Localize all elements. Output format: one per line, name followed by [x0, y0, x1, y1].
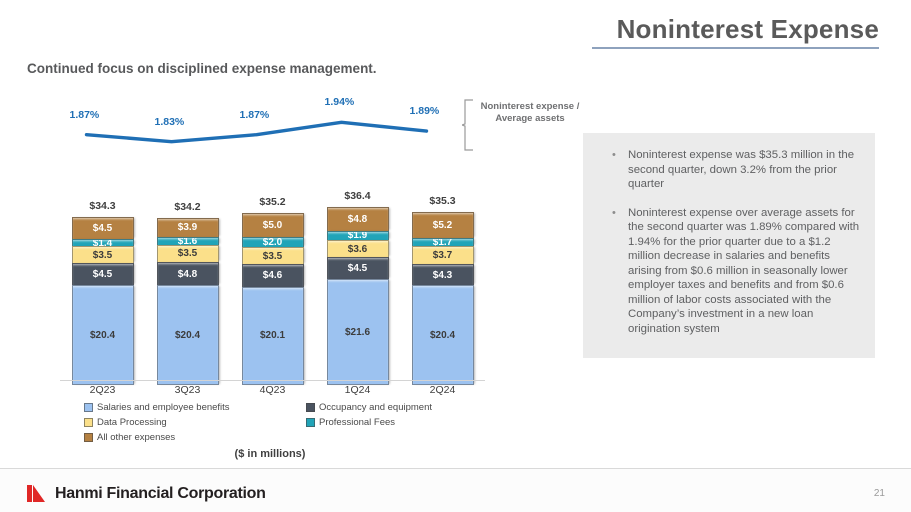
legend-item[interactable]: Data Processing — [84, 417, 167, 428]
bar-segment-label: $3.9 — [178, 222, 197, 233]
bar-segment[interactable]: $20.4 — [157, 285, 219, 385]
bar-total-label: $34.3 — [72, 200, 134, 212]
x-axis-label: 4Q23 — [242, 384, 304, 396]
bullet-marker-icon: • — [612, 148, 628, 192]
legend-row: Data ProcessingProfessional Fees — [84, 417, 484, 432]
bar-segment[interactable]: $4.5 — [72, 217, 134, 239]
ratio-data-label: 1.87% — [70, 109, 100, 121]
bar-total-label: $34.2 — [157, 201, 219, 213]
units-note: ($ in millions) — [160, 448, 380, 460]
x-axis-label: 3Q23 — [157, 384, 219, 396]
bullet-item: •Noninterest expense over average assets… — [612, 206, 864, 337]
legend-swatch-icon — [306, 418, 315, 427]
bar-segment-label: $1.9 — [348, 231, 367, 240]
legend-swatch-icon — [306, 403, 315, 412]
x-axis-label: 2Q24 — [412, 384, 474, 396]
bar-segment-label: $4.5 — [93, 269, 112, 280]
legend-label: Occupancy and equipment — [319, 402, 432, 413]
bar-segment[interactable]: $3.7 — [412, 246, 474, 264]
legend-label: Data Processing — [97, 417, 167, 428]
legend-label: All other expenses — [97, 432, 175, 443]
bar-segment-label: $1.4 — [93, 239, 112, 246]
legend-item[interactable]: Salaries and employee benefits — [84, 402, 230, 413]
bar-segment-label: $5.0 — [263, 220, 282, 231]
bar-segment-label: $3.6 — [348, 244, 367, 255]
bar-column[interactable]: $4.5$1.4$3.5$4.5$20.4 — [72, 217, 134, 385]
bullet-marker-icon: • — [612, 206, 628, 337]
bar-segment-label: $1.6 — [178, 237, 197, 245]
bar-segment[interactable]: $3.5 — [242, 247, 304, 264]
ratio-data-label: 1.89% — [410, 105, 440, 117]
bar-segment-label: $20.4 — [175, 330, 200, 341]
legend-row: Salaries and employee benefitsOccupancy … — [84, 402, 484, 417]
title-divider — [592, 47, 879, 49]
ratio-data-label: 1.83% — [155, 116, 185, 128]
legend-swatch-icon — [84, 433, 93, 442]
bar-segment[interactable]: $3.5 — [157, 245, 219, 262]
bar-segment-label: $20.4 — [90, 330, 115, 341]
bar-segment-label: $4.6 — [263, 270, 282, 281]
bar-segment-label: $2.0 — [263, 237, 282, 247]
x-axis-label: 1Q24 — [327, 384, 389, 396]
bar-segment[interactable]: $4.8 — [157, 262, 219, 285]
bar-segment[interactable]: $20.4 — [72, 285, 134, 385]
ratio-axis-title: Noninterest expense / Average assets — [480, 101, 580, 125]
bar-segment[interactable]: $21.6 — [327, 279, 389, 385]
legend-label: Professional Fees — [319, 417, 395, 428]
legend-item[interactable]: Professional Fees — [306, 417, 395, 428]
legend-label: Salaries and employee benefits — [97, 402, 230, 413]
bar-segment[interactable]: $4.8 — [327, 207, 389, 230]
ratio-line-chart: 1.87%1.83%1.87%1.94%1.89% — [60, 100, 460, 150]
bullet-text: Noninterest expense was $35.3 million in… — [628, 148, 864, 192]
commentary-bullets: •Noninterest expense was $35.3 million i… — [612, 148, 864, 350]
bar-segment[interactable]: $1.7 — [412, 238, 474, 246]
bar-segment-label: $20.4 — [430, 330, 455, 341]
bar-segment-label: $3.5 — [93, 250, 112, 261]
bar-segment[interactable]: $20.1 — [242, 287, 304, 385]
bar-segment-label: $5.2 — [433, 220, 452, 231]
bar-total-label: $35.3 — [412, 195, 474, 207]
bar-total-label: $35.2 — [242, 196, 304, 208]
bar-segment-label: $4.5 — [93, 223, 112, 234]
bar-segment[interactable]: $2.0 — [242, 237, 304, 247]
bar-segment-label: $3.5 — [178, 248, 197, 259]
bullet-item: •Noninterest expense was $35.3 million i… — [612, 148, 864, 192]
bar-segment[interactable]: $4.5 — [327, 257, 389, 279]
bar-segment-label: $4.8 — [348, 214, 367, 225]
page-number: 21 — [874, 488, 885, 499]
x-axis-label: 2Q23 — [72, 384, 134, 396]
bar-segment[interactable]: $1.9 — [327, 231, 389, 240]
bar-segment-label: $4.8 — [178, 269, 197, 280]
subtitle: Continued focus on disciplined expense m… — [27, 61, 377, 76]
legend-row: All other expenses — [84, 432, 484, 447]
chart-baseline — [60, 380, 485, 381]
hanmi-logo-icon — [26, 484, 48, 503]
company-name: Hanmi Financial Corporation — [55, 485, 266, 503]
bar-segment-label: $4.3 — [433, 270, 452, 281]
bar-segment[interactable]: $1.6 — [157, 237, 219, 245]
bar-total-label: $36.4 — [327, 190, 389, 202]
bar-column[interactable]: $4.8$1.9$3.6$4.5$21.6 — [327, 207, 389, 385]
legend-swatch-icon — [84, 418, 93, 427]
bar-segment[interactable]: $1.4 — [72, 239, 134, 246]
bar-segment[interactable]: $5.0 — [242, 213, 304, 237]
ratio-data-label: 1.94% — [325, 96, 355, 108]
slide: Noninterest Expense Continued focus on d… — [0, 0, 911, 512]
bar-column[interactable]: $5.2$1.7$3.7$4.3$20.4 — [412, 212, 474, 385]
company-logo: Hanmi Financial Corporation — [26, 484, 266, 503]
ratio-data-label: 1.87% — [240, 109, 270, 121]
bar-segment-label: $21.6 — [345, 327, 370, 338]
bar-column[interactable]: $3.9$1.6$3.5$4.8$20.4 — [157, 218, 219, 385]
bar-segment[interactable]: $4.3 — [412, 264, 474, 285]
bar-segment[interactable]: $5.2 — [412, 212, 474, 237]
bar-segment-label: $20.1 — [260, 330, 285, 341]
legend-swatch-icon — [84, 403, 93, 412]
page-title: Noninterest Expense — [617, 14, 879, 45]
chart-legend: Salaries and employee benefitsOccupancy … — [84, 402, 484, 447]
bar-segment[interactable]: $4.5 — [72, 263, 134, 285]
legend-item[interactable]: All other expenses — [84, 432, 175, 443]
bar-segment-label: $3.5 — [263, 251, 282, 262]
bar-column[interactable]: $5.0$2.0$3.5$4.6$20.1 — [242, 213, 304, 385]
bar-segment-label: $1.7 — [433, 238, 452, 246]
bullet-text: Noninterest expense over average assets … — [628, 206, 864, 337]
bar-segment[interactable]: $3.5 — [72, 246, 134, 263]
bar-segment[interactable]: $3.9 — [157, 218, 219, 237]
bar-segment[interactable]: $3.6 — [327, 240, 389, 258]
bar-segment-label: $3.7 — [433, 250, 452, 261]
legend-item[interactable]: Occupancy and equipment — [306, 402, 432, 413]
bar-segment[interactable]: $20.4 — [412, 285, 474, 385]
bar-segment-label: $4.5 — [348, 263, 367, 274]
bar-segment[interactable]: $4.6 — [242, 264, 304, 286]
ratio-bracket-icon — [462, 99, 476, 151]
